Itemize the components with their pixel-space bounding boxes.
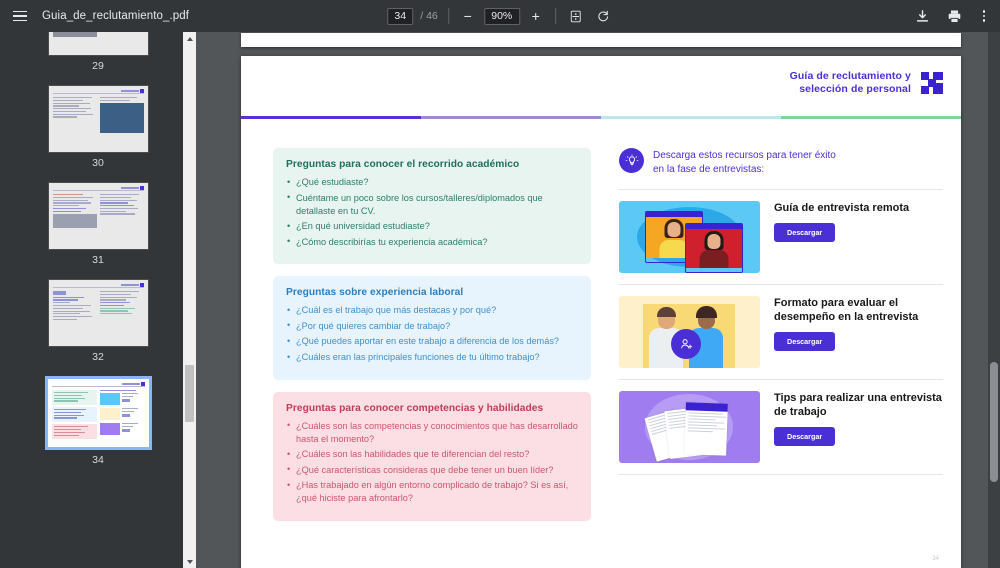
top-toolbar: Guia_de_reclutamiento_.pdf 34 / 46 − 90%… [0, 0, 1000, 32]
total-pages-label: / 46 [420, 10, 438, 22]
thumbnail-item[interactable]: 34 [0, 368, 196, 471]
thumbnail-sidebar[interactable]: 29 [0, 32, 196, 568]
fit-to-page-icon[interactable] [566, 6, 586, 26]
question-list: ¿Qué estudiaste? Cuéntame un poco sobre … [286, 176, 578, 249]
question-box-competencies: Preguntas para conocer competencias y ha… [273, 392, 591, 521]
download-button[interactable]: Descargar [774, 332, 835, 351]
page-thumbnail-34-selected[interactable] [45, 376, 152, 450]
question-box-heading: Preguntas para conocer el recorrido acad… [286, 159, 578, 170]
thumbnail-page-number: 31 [92, 254, 104, 266]
resource-card: Guía de entrevista remota Descargar [619, 189, 943, 284]
resource-card-info: Guía de entrevista remota Descargar [774, 201, 943, 273]
page-separator: / [420, 10, 423, 22]
question-box-academic: Preguntas para conocer el recorrido acad… [273, 148, 591, 264]
question-item: ¿En qué universidad estudiaste? [286, 220, 578, 233]
question-box-experience: Preguntas sobre experiencia laboral ¿Cuá… [273, 276, 591, 379]
brand-logo-icon [921, 72, 943, 94]
gradient-segment-1 [241, 116, 421, 119]
total-pages-value: 46 [426, 10, 438, 22]
question-item: ¿Has trabajado en algún entorno complica… [286, 479, 578, 505]
zoom-out-button[interactable]: − [459, 7, 477, 25]
question-box-heading: Preguntas para conocer competencias y ha… [286, 403, 578, 414]
header-gradient-bar [241, 116, 961, 119]
resource-card-title: Tips para realizar una entrevista de tra… [774, 391, 943, 419]
resources-intro-line2: en la fase de entrevistas: [653, 163, 836, 177]
gradient-segment-2 [421, 116, 601, 119]
print-icon[interactable] [944, 6, 964, 26]
page-thumbnail-31[interactable] [48, 182, 149, 250]
question-item: ¿Por qué quieres cambiar de trabajo? [286, 320, 578, 333]
lightbulb-icon [619, 148, 644, 173]
thumbnail-strip: 29 [0, 32, 196, 471]
question-list: ¿Cuáles son las competencias y conocimie… [286, 420, 578, 506]
two-people-illustration [619, 296, 760, 368]
sidebar-scrollbar[interactable] [183, 32, 196, 568]
question-box-heading: Preguntas sobre experiencia laboral [286, 287, 578, 298]
question-item: ¿Cómo describirías tu experiencia académ… [286, 236, 578, 249]
thumbnail-page-number: 34 [92, 454, 104, 466]
document-scrollbar[interactable] [988, 32, 1000, 568]
resource-card-title: Guía de entrevista remota [774, 201, 943, 215]
resources-intro-line1: Descarga estos recursos para tener éxito [653, 149, 836, 163]
page-body: Preguntas para conocer el recorrido acad… [273, 148, 943, 521]
page-header: Guía de reclutamiento y selección de per… [790, 70, 943, 96]
resource-card: Formato para evaluar el desempeño en la … [619, 284, 943, 379]
question-item: ¿Qué estudiaste? [286, 176, 578, 189]
toolbar-divider-1 [448, 8, 449, 24]
sidebar-scroll-down-icon[interactable] [183, 555, 196, 568]
resources-intro: Descarga estos recursos para tener éxito… [619, 148, 943, 177]
question-item: ¿Cuáles eran las principales funciones d… [286, 351, 578, 364]
thumbnail-page-number: 29 [92, 60, 104, 72]
question-item: ¿Qué puedes aportar en este trabajo a di… [286, 335, 578, 348]
resource-card-title: Formato para evaluar el desempeño en la … [774, 296, 943, 324]
header-title-line2: selección de personal [790, 83, 911, 96]
pdf-viewer-app: Guia_de_reclutamiento_.pdf 34 / 46 − 90%… [0, 0, 1000, 568]
question-item: ¿Cuáles son las habilidades que te difer… [286, 448, 578, 461]
download-button[interactable]: Descargar [774, 427, 835, 446]
question-item: ¿Qué características consideras que debe… [286, 464, 578, 477]
questions-column: Preguntas para conocer el recorrido acad… [273, 148, 591, 521]
documents-illustration [619, 391, 760, 463]
zoom-in-button[interactable]: + [527, 7, 545, 25]
toolbar-right-group [912, 6, 992, 26]
question-item: ¿Cuál es el trabajo que más destacas y p… [286, 304, 578, 317]
hamburger-icon[interactable] [10, 6, 30, 26]
video-call-illustration [619, 201, 760, 273]
page-thumbnail-29[interactable] [48, 32, 149, 56]
question-list: ¿Cuál es el trabajo que más destacas y p… [286, 304, 578, 364]
toolbar-divider-2 [555, 8, 556, 24]
resource-card: Tips para realizar una entrevista de tra… [619, 379, 943, 475]
resource-card-info: Formato para evaluar el desempeño en la … [774, 296, 943, 368]
pdf-page: Guía de reclutamiento y selección de per… [241, 56, 961, 568]
question-item: Cuéntame un poco sobre los cursos/taller… [286, 192, 578, 218]
resources-column: Descarga estos recursos para tener éxito… [619, 148, 943, 521]
toolbar-center-group: 34 / 46 − 90% + [387, 6, 613, 26]
question-item: ¿Cuáles son las competencias y conocimie… [286, 420, 578, 446]
page-footer-number: 34 [932, 556, 939, 562]
previous-page-sliver [241, 33, 961, 47]
gradient-segment-3 [601, 116, 781, 119]
sidebar-scroll-up-icon[interactable] [183, 32, 196, 45]
document-title: Guia_de_reclutamiento_.pdf [42, 10, 189, 22]
page-thumbnail-32[interactable] [48, 279, 149, 347]
sidebar-scrollbar-thumb[interactable] [185, 365, 194, 422]
document-viewport[interactable]: Guía de reclutamiento y selección de per… [196, 32, 1000, 568]
toolbar-left-group: Guia_de_reclutamiento_.pdf [0, 6, 189, 26]
more-options-icon[interactable] [976, 10, 992, 22]
document-scrollbar-thumb[interactable] [990, 362, 998, 482]
resources-intro-text: Descarga estos recursos para tener éxito… [653, 148, 836, 177]
page-header-title: Guía de reclutamiento y selección de per… [790, 70, 911, 96]
download-icon[interactable] [912, 6, 932, 26]
download-button[interactable]: Descargar [774, 223, 835, 242]
page-number-input[interactable]: 34 [387, 8, 413, 25]
thumbnail-item[interactable]: 29 [0, 32, 196, 77]
thumbnail-page-number: 32 [92, 351, 104, 363]
thumbnail-page-number: 30 [92, 157, 104, 169]
thumbnail-item[interactable]: 32 [0, 271, 196, 368]
thumbnail-item[interactable]: 31 [0, 174, 196, 271]
rotate-icon[interactable] [593, 6, 613, 26]
zoom-level-input[interactable]: 90% [484, 8, 520, 25]
gradient-segment-4 [781, 116, 961, 119]
resource-card-info: Tips para realizar una entrevista de tra… [774, 391, 943, 463]
header-title-line1: Guía de reclutamiento y [790, 70, 911, 83]
page-thumbnail-30[interactable] [48, 85, 149, 153]
thumbnail-item[interactable]: 30 [0, 77, 196, 174]
